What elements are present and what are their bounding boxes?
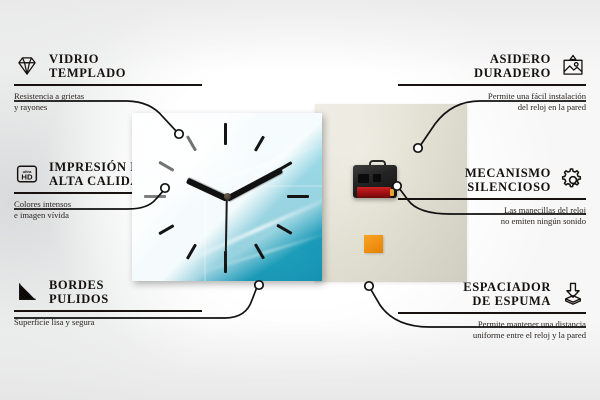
feature-title-line2: TEMPLADO — [49, 66, 126, 80]
down-arrow-on-layer-icon — [560, 281, 586, 307]
feature-silent-mechanism: MECANISMO SILENCIOSO Las manecillas del … — [398, 166, 586, 227]
movement-slot-right — [373, 174, 381, 182]
movement-slot-left — [358, 174, 369, 183]
clock-tick — [287, 195, 309, 198]
feature-title-line2: PULIDOS — [49, 292, 109, 306]
feature-durable-hanger: ASIDERO DURADERO Permite una fácil insta… — [398, 52, 586, 113]
feature-title-line1: VIDRIO — [49, 52, 126, 66]
ultra-hd-badge-icon: ultra HD — [14, 161, 40, 187]
feature-desc-line2: uniforme entre el reloj y la pared — [398, 330, 586, 341]
feature-title-line1: BORDES — [49, 278, 109, 292]
clock-tick — [224, 123, 227, 145]
feature-divider — [398, 84, 586, 86]
feature-divider — [14, 84, 202, 86]
feature-title-line2: DURADERO — [474, 66, 551, 80]
feature-desc-line1: Permite una fácil instalación — [398, 91, 586, 102]
feature-desc-line1: Las manecillas del reloj — [398, 205, 586, 216]
feature-polished-edges: BORDES PULIDOS Superficie lisa y segura — [14, 278, 202, 328]
feature-divider — [14, 310, 202, 312]
hatched-triangle-icon — [14, 279, 40, 305]
clock-movement-part — [353, 160, 397, 198]
svg-text:HD: HD — [21, 173, 33, 182]
clock-tick — [144, 195, 166, 198]
feature-desc-line1: Resistencia a grietas — [14, 91, 202, 102]
feature-title-line2: SILENCIOSO — [465, 180, 551, 194]
feature-tempered-glass: VIDRIO TEMPLADO Resistencia a grietas y … — [14, 52, 202, 113]
clock-center-cap — [224, 193, 231, 200]
movement-body — [353, 165, 397, 198]
feature-title-line2: DE ESPUMA — [463, 294, 551, 308]
feature-divider — [398, 312, 586, 314]
gear-icon — [560, 167, 586, 193]
feature-title-line1: ESPACIADOR — [463, 280, 551, 294]
feature-foam-spacer: ESPACIADOR DE ESPUMA Permite mantener un… — [398, 280, 586, 341]
diamond-icon — [14, 53, 40, 79]
feature-desc-line1: Permite mantener una distancia — [398, 319, 586, 330]
feature-title-line1: ASIDERO — [474, 52, 551, 66]
hanging-picture-frame-icon — [560, 53, 586, 79]
glass-wall-clock-photo — [132, 113, 322, 281]
feature-desc-line2: del reloj en la pared — [398, 102, 586, 113]
feature-desc-line1: Superficie lisa y segura — [14, 317, 202, 328]
feature-desc-line2: no emiten ningún sonido — [398, 216, 586, 227]
feature-divider — [398, 198, 586, 200]
foam-spacer-part — [364, 235, 383, 253]
feature-desc-line2: y rayones — [14, 102, 202, 113]
battery — [357, 187, 391, 198]
feature-title-line1: MECANISMO — [465, 166, 551, 180]
